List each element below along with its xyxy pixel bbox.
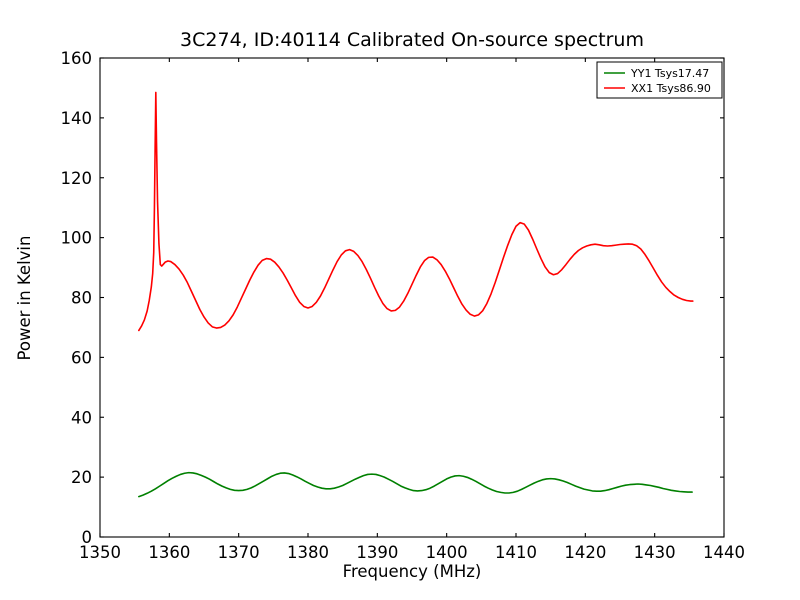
data-series-group <box>139 92 693 496</box>
y-axis-title: Power in Kelvin <box>15 236 34 361</box>
y-tick-label: 140 <box>61 109 93 128</box>
y-tick-label: 160 <box>61 49 93 68</box>
x-tick-label: 1380 <box>287 543 329 562</box>
spectrum-plot: 3C274, ID:40114 Calibrated On-source spe… <box>0 0 800 600</box>
y-axis-ticks: 020406080100120140160 <box>61 49 725 547</box>
y-tick-label: 120 <box>61 169 93 188</box>
x-tick-label: 1400 <box>426 543 468 562</box>
y-tick-label: 80 <box>71 289 92 308</box>
x-axis-ticks: 1350136013701380139014001410142014301440 <box>79 58 745 562</box>
x-axis-title: Frequency (MHz) <box>343 562 482 581</box>
chart-title: 3C274, ID:40114 Calibrated On-source spe… <box>180 29 644 51</box>
x-tick-label: 1420 <box>564 543 606 562</box>
legend-label: YY1 Tsys17.47 <box>630 67 709 80</box>
y-tick-label: 60 <box>71 348 92 367</box>
legend-label: XX1 Tsys86.90 <box>631 82 711 95</box>
x-tick-label: 1390 <box>356 543 398 562</box>
y-tick-label: 100 <box>61 229 93 248</box>
x-tick-label: 1410 <box>495 543 537 562</box>
series-line-yy1 <box>139 473 692 497</box>
x-tick-label: 1440 <box>703 543 745 562</box>
y-tick-label: 0 <box>82 528 93 547</box>
y-tick-label: 40 <box>71 408 92 427</box>
y-tick-label: 20 <box>71 468 92 487</box>
legend: YY1 Tsys17.47XX1 Tsys86.90 <box>597 62 722 98</box>
figure-canvas: 3C274, ID:40114 Calibrated On-source spe… <box>0 0 800 600</box>
x-tick-label: 1430 <box>634 543 676 562</box>
x-tick-label: 1360 <box>148 543 190 562</box>
series-line-xx1 <box>139 92 693 330</box>
x-tick-label: 1370 <box>218 543 260 562</box>
